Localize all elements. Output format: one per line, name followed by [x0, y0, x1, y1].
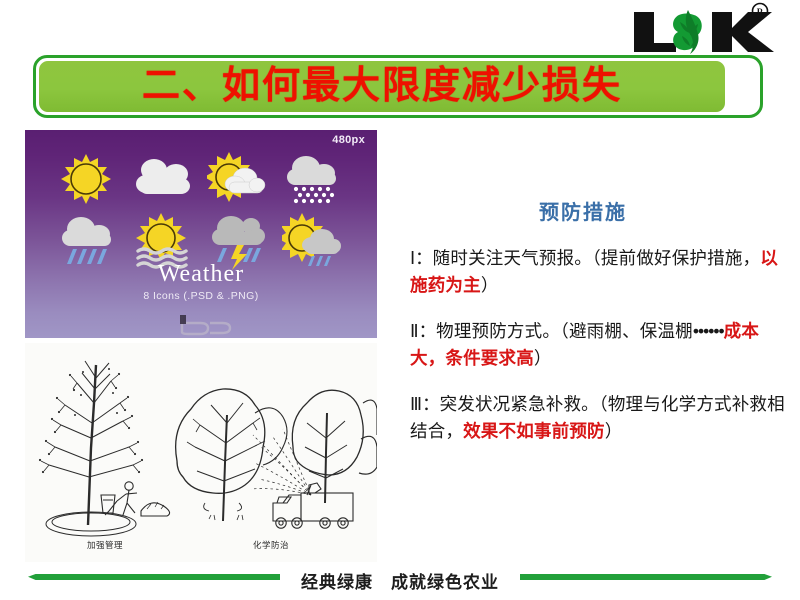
sketch-caption-left: 加强管理 — [87, 539, 123, 551]
slide-root: R 二、如何最大限度减少损失 480px — [0, 0, 800, 600]
item-3-line1: 突发状况紧急补救。（物理与 — [440, 394, 661, 414]
panel-heading: 预防措施 — [398, 196, 790, 225]
page-title: 二、如何最大限度减少损失 — [142, 67, 622, 105]
item-3-highlight-a: 效果不如事前 — [463, 421, 569, 441]
lk-leaf-logo: R — [620, 2, 780, 64]
item-1-line2b: ） — [481, 275, 499, 295]
sun-icon — [51, 148, 126, 210]
footer-slogan-left: 经典绿康 — [301, 573, 373, 592]
slide-footer: 经典绿康成就绿色农业 — [0, 562, 800, 600]
weather-icons-image: 480px — [25, 130, 377, 338]
item-1-line1: 随时关注天气预报。（提前做 — [433, 248, 654, 268]
weather-icon-grid — [51, 148, 351, 272]
prevention-item-2: Ⅱ：物理预防方式。（避雨棚、保温棚••••••成本大，条件要求高） — [398, 318, 790, 371]
spacer — [398, 309, 790, 318]
clouds-icon — [126, 148, 201, 210]
sun-behind-cloud-icon — [201, 148, 276, 210]
prevention-item-3: Ⅲ：突发状况紧急补救。（物理与化学方式补救相结合，效果不如事前预防） — [398, 391, 790, 444]
item-3-line3b: ） — [605, 421, 623, 441]
weather-px-label: 480px — [332, 134, 365, 146]
footer-slogan-right: 成就绿色农业 — [391, 573, 499, 592]
cloud-snow-icon — [276, 148, 351, 210]
spacer — [398, 382, 790, 391]
item-2-line2b: ） — [534, 348, 552, 368]
bp-watermark — [25, 312, 377, 338]
prevention-item-1: Ⅰ：随时关注天气预报。（提前做好保护措施，以施药为主） — [398, 245, 790, 298]
item-2-line1: 物理预防方式。（避雨棚、保 — [436, 321, 657, 341]
item-2-ellipsis: •••••• — [693, 321, 724, 341]
weather-image-subtitle: 8 Icons (.PSD & .PNG) — [25, 290, 377, 302]
prevention-text-panel: 预防措施 Ⅰ：随时关注天气预报。（提前做好保护措施，以施药为主） Ⅱ：物理预防方… — [398, 196, 790, 456]
item-1-marker: Ⅰ： — [410, 248, 433, 268]
orchard-management-sketch: 加强管理 化学防治 — [25, 343, 377, 562]
title-banner: 二、如何最大限度减少损失 — [37, 59, 727, 114]
item-1-line2a: 好保护措施， — [654, 248, 760, 268]
svg-text:R: R — [757, 7, 764, 17]
footer-slogan: 经典绿康成就绿色农业 — [0, 568, 800, 593]
item-3-marker: Ⅲ： — [410, 394, 440, 414]
weather-icon-row — [51, 148, 351, 210]
weather-image-title: Weather — [25, 261, 377, 288]
item-2-marker: Ⅱ： — [410, 321, 436, 341]
item-3-highlight-b: 预防 — [569, 421, 604, 441]
sketch-caption-right: 化学防治 — [253, 539, 289, 551]
item-2-line2a: 温棚 — [657, 321, 692, 341]
